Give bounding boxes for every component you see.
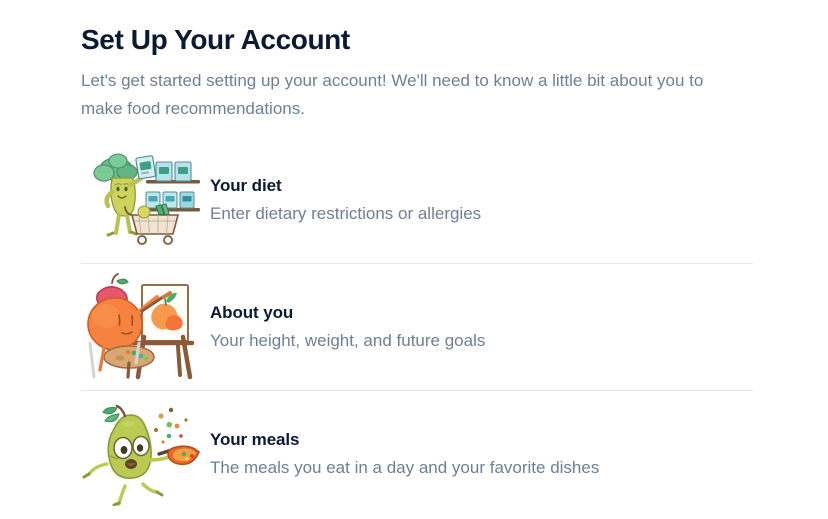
item-text-block: Your diet Enter dietary restrictions or … xyxy=(208,175,481,226)
setup-item-about-you[interactable]: About you Your height, weight, and futur… xyxy=(81,264,753,391)
item-description: Your height, weight, and future goals xyxy=(210,324,485,353)
pear-cooking-icon xyxy=(78,399,208,509)
item-title: Your meals xyxy=(210,429,599,451)
item-title: Your diet xyxy=(210,175,481,197)
setup-steps-list: Your diet Enter dietary restrictions or … xyxy=(81,137,753,517)
item-description: Enter dietary restrictions or allergies xyxy=(210,197,481,226)
broccoli-shopping-icon xyxy=(78,145,208,255)
item-text-block: About you Your height, weight, and futur… xyxy=(208,302,485,353)
setup-item-your-meals[interactable]: Your meals The meals you eat in a day an… xyxy=(81,391,753,517)
page-title: Set Up Your Account xyxy=(81,0,753,57)
item-text-block: Your meals The meals you eat in a day an… xyxy=(208,429,599,480)
item-description: The meals you eat in a day and your favo… xyxy=(210,451,599,480)
page-subtitle: Let's get started setting up your accoun… xyxy=(81,57,726,123)
item-title: About you xyxy=(210,302,485,324)
setup-account-page: Set Up Your Account Let's get started se… xyxy=(0,0,828,519)
content-container: Set Up Your Account Let's get started se… xyxy=(81,0,753,517)
orange-painting-icon xyxy=(78,272,208,382)
setup-item-your-diet[interactable]: Your diet Enter dietary restrictions or … xyxy=(81,137,753,264)
